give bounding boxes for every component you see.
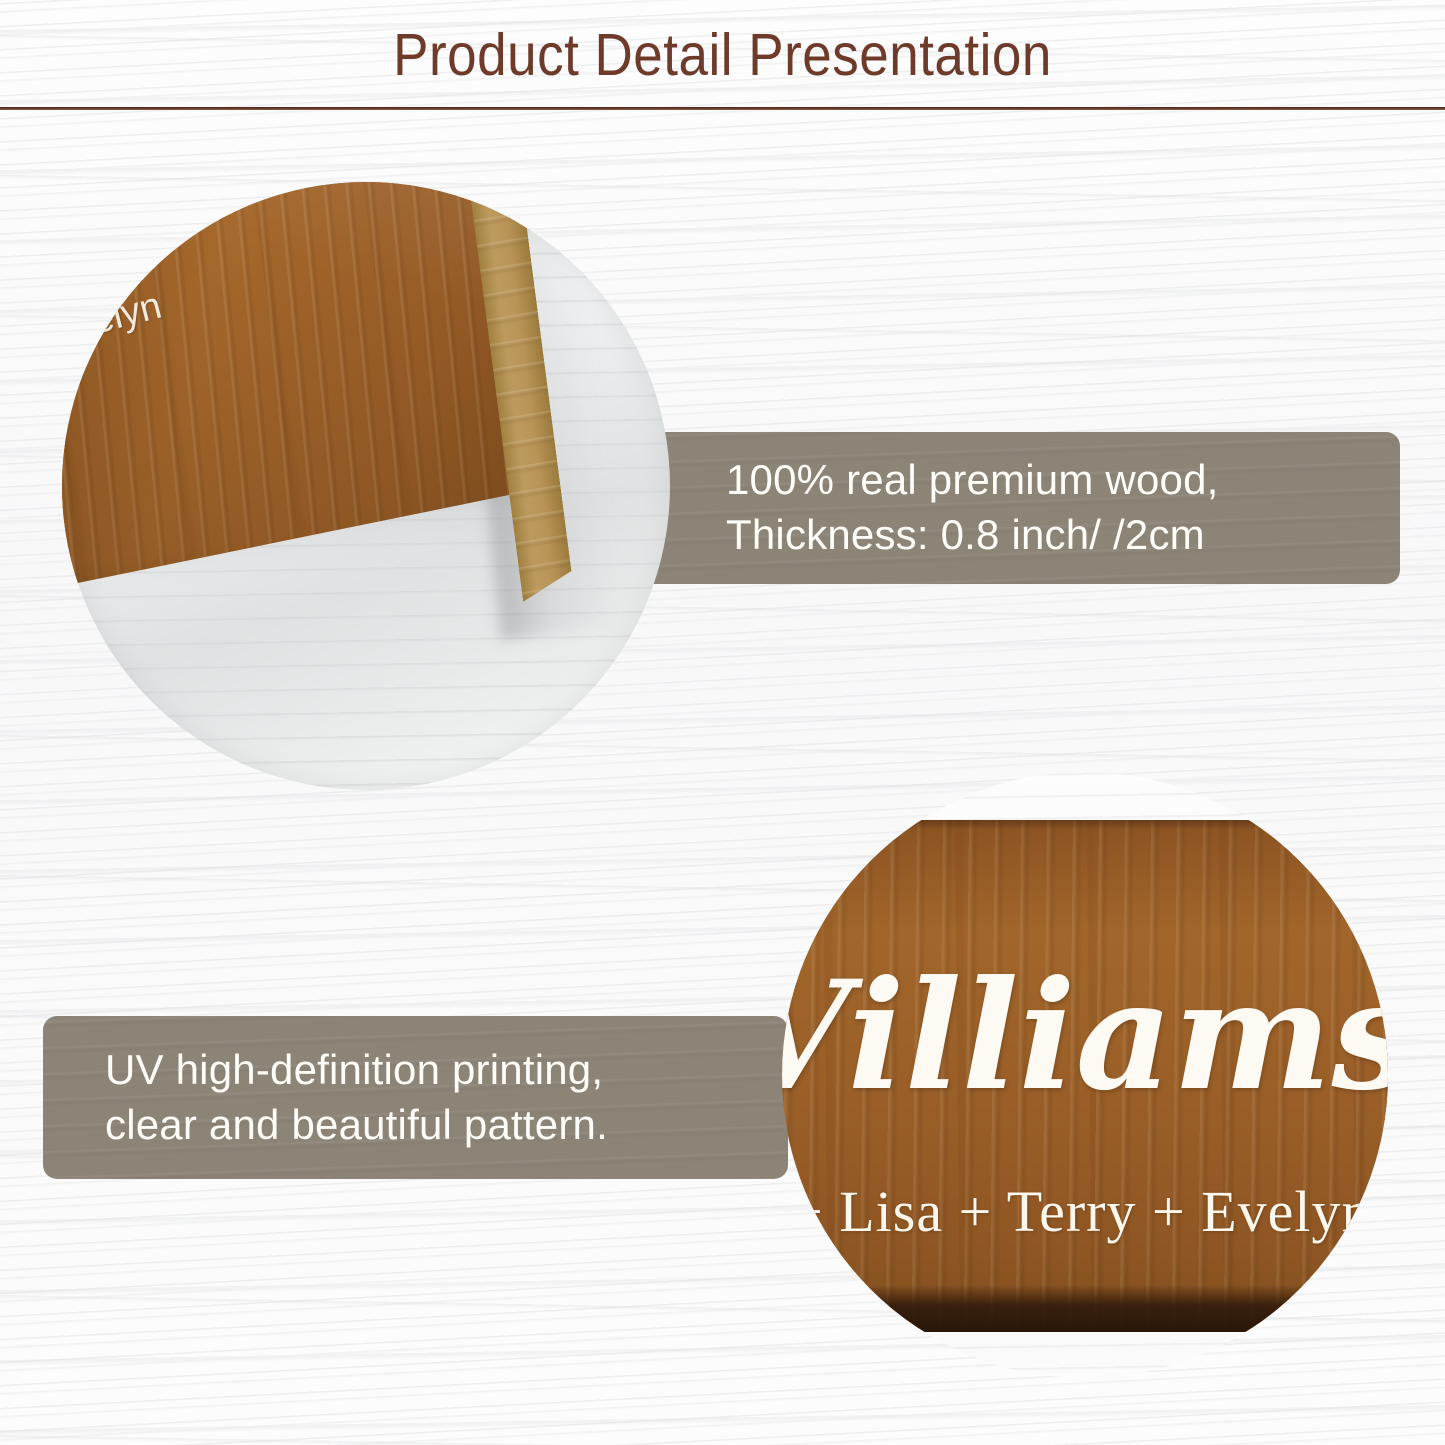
closeup-script-text: Villiams Fa — [782, 948, 1388, 1124]
callout-banner-wood: 100% real premium wood, Thickness: 0.8 i… — [600, 432, 1400, 584]
product-detail-presentation-page: Product Detail Presentation family y + E… — [0, 0, 1445, 1445]
product-photo-printing: Villiams Fa + Lisa + Terry + Evelyn — [782, 772, 1388, 1378]
callout-wood-line-1: 100% real premium wood, — [726, 453, 1400, 508]
callout-banner-printing: UV high-definition printing, clear and b… — [43, 1016, 788, 1179]
page-header: Product Detail Presentation — [0, 0, 1445, 110]
callout-wood-line-2: Thickness: 0.8 inch/ /2cm — [726, 508, 1400, 563]
callout-printing-line-2: clear and beautiful pattern. — [105, 1098, 788, 1153]
header-divider — [0, 107, 1445, 110]
product-photo-thickness: family y + Evelyn — [62, 182, 670, 790]
callout-printing-line-1: UV high-definition printing, — [105, 1043, 788, 1098]
sign-names-text: y + Evelyn — [62, 285, 166, 370]
sign-script-text: family — [62, 182, 465, 268]
closeup-names-text: + Lisa + Terry + Evelyn — [790, 1178, 1371, 1245]
wood-board-closeup: Villiams Fa + Lisa + Terry + Evelyn — [782, 820, 1388, 1332]
page-title: Product Detail Presentation — [393, 21, 1052, 89]
